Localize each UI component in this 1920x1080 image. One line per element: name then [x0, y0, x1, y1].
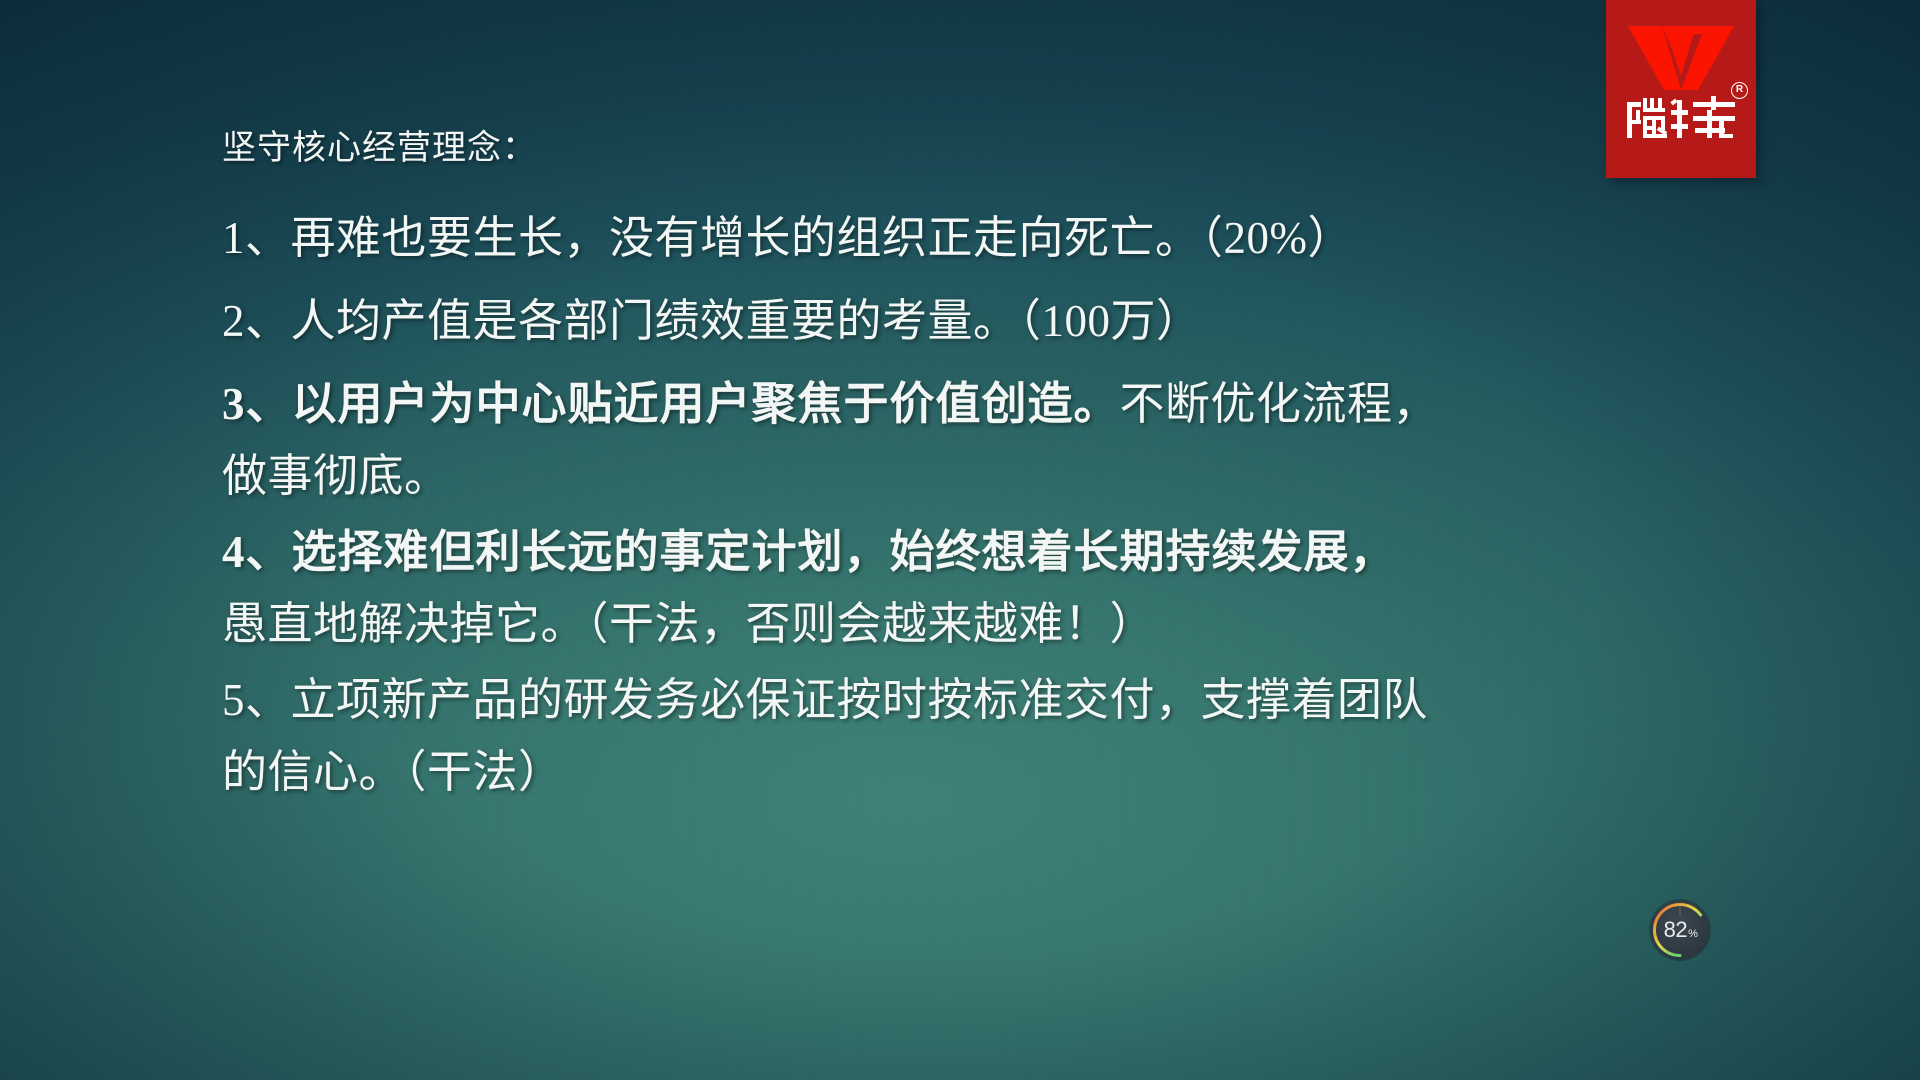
bullet-item-3: 3、以用户为中心贴近用户聚焦于价值创造。不断优化流程，做事彻底。 — [222, 368, 1622, 512]
bullet-item-5: 5、立项新产品的研发务必保证按时按标准交付，支撑着团队的信心。（干法） — [222, 664, 1622, 808]
bullet-3-line-2: 做事彻底。 — [222, 451, 450, 501]
bullet-5-line-2: 的信心。（干法） — [222, 747, 564, 797]
bullet-item-1: 1、再难也要生长，没有增长的组织正走向死亡。（20%） — [222, 202, 1622, 274]
slide-content: 坚守核心经营理念： 1、再难也要生长，没有增长的组织正走向死亡。（20%） 2、… — [222, 132, 1622, 808]
bullet-2-line-1: 2、人均产值是各部门绩效重要的考量。（100万） — [222, 296, 1202, 346]
page-title: 坚守核心经营理念： — [222, 132, 1622, 166]
bullet-item-4: 4、选择难但利长远的事定计划，始终想着长期持续发展，愚直地解决掉它。（干法，否则… — [222, 516, 1622, 660]
bullet-item-2: 2、人均产值是各部门绩效重要的考量。（100万） — [222, 285, 1622, 357]
w-mark-icon — [1628, 26, 1734, 90]
bullet-3-line-1-rest: 不断优化流程， — [1120, 379, 1439, 429]
logo-wordmark — [1625, 96, 1737, 144]
battery-percent-number: 82 — [1664, 917, 1687, 943]
registered-trademark-icon: R — [1731, 82, 1748, 99]
battery-percent-badge[interactable]: 82% — [1647, 897, 1713, 963]
bullet-5-line-1: 5、立项新产品的研发务必保证按时按标准交付，支撑着团队 — [222, 675, 1428, 725]
battery-percent-unit: % — [1687, 921, 1697, 940]
bullet-4-emphasis: 4、选择难但利长远的事定计划，始终想着长期持续发展， — [222, 527, 1396, 577]
battery-percent-value: 82% — [1647, 897, 1713, 963]
bullet-3-emphasis: 3、以用户为中心贴近用户聚焦于价值创造。 — [222, 379, 1120, 429]
weite-logo: R — [1606, 0, 1756, 178]
slide-canvas: R 坚守核心经营理念： 1、再难也要生长，没有增长的组织正走向死亡。（20%） … — [0, 0, 1920, 1080]
bullet-4-line-2: 愚直地解决掉它。（干法，否则会越来越难！） — [222, 599, 1155, 649]
bullet-1-line-1: 1、再难也要生长，没有增长的组织正走向死亡。（20%） — [222, 213, 1353, 263]
